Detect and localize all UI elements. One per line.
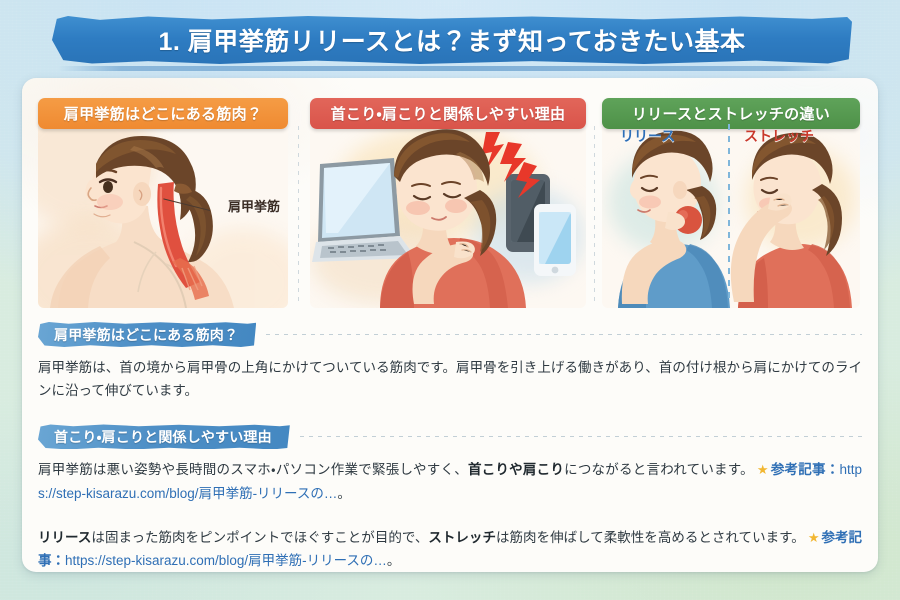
paragraph-mid-2: は筋肉を伸ばして柔軟性を高めるとされています。 [496,530,805,545]
title-underline [58,66,844,71]
neck-pain-illustration [310,118,586,308]
paragraph-emphasis: 首こりや肩こり [468,462,564,477]
paragraph-mid-1: は固まった筋肉をピンポイントでほぐすことが目的で、 [91,530,428,545]
panel-divider-2 [594,126,595,302]
infographic-page: 1. 肩甲挙筋リリースとは？まず知っておきたい基本 肩甲挙筋はどこにある筋肉？ … [0,0,900,600]
panel-header-release-vs-stretch: リリースとストレッチの違い [602,98,860,129]
illustration-muscle-location: 肩甲挙筋 [38,118,288,308]
paragraph-stiffness-reason: 肩甲挙筋は悪い姿勢や長時間のスマホ・パソコン作業で緊張しやすく、首こりや肩こりに… [38,458,862,505]
release-stretch-illustration [602,118,860,308]
smartphone-icon [534,204,576,276]
callout-label-levator-scapulae: 肩甲挙筋 [228,196,280,215]
panel-header-muscle-location: 肩甲挙筋はどこにある筋肉？ [38,98,288,129]
illustration-stiffness-reason [310,118,586,308]
page-title: 1. 肩甲挙筋リリースとは？まず知っておきたい基本 [52,16,852,64]
section-label-row-1: 肩甲挙筋はどこにある筋肉？ [38,322,862,347]
paragraph-text: 肩甲挙筋は、首の境から肩甲骨の上角にかけてついている筋肉です。肩甲骨を引き上げる… [38,360,862,398]
reference-label: 参考記事 [771,462,826,477]
paragraph-period: 。 [387,553,401,568]
section-label-row-2: 首こり・肩こりと関係しやすい理由 [38,424,862,449]
star-icon: ★ [808,530,820,545]
paragraph-suffix: につながると言われています。 [564,462,754,477]
stretch-figure [731,133,852,308]
reference-separator: ： [52,553,66,568]
sub-label-stretch: ストレッチ [744,126,814,146]
release-stretch-divider [728,124,730,300]
paragraph-emphasis-stretch: ストレッチ [428,530,496,545]
section-label-stiffness-reason: 首こり・肩こりと関係しやすい理由 [38,424,290,449]
section-rule [266,334,862,335]
star-icon: ★ [757,462,769,477]
body-text-section: 肩甲挙筋はどこにある筋肉？ 肩甲挙筋は、首の境から肩甲骨の上角にかけてついている… [38,322,862,573]
paragraph-prefix: 肩甲挙筋は悪い姿勢や長時間のスマホ・パソコン作業で緊張しやすく、 [38,462,468,477]
reference-link[interactable]: https://step-kisarazu.com/blog/肩甲挙筋-リリース… [65,553,387,568]
paragraph-period: 。 [337,486,351,501]
release-figure [618,131,730,308]
section-label-muscle-location: 肩甲挙筋はどこにある筋肉？ [38,322,256,347]
panel-divider-1 [298,126,299,302]
illustration-release-vs-stretch: リリース ストレッチ [602,118,860,308]
paragraph-emphasis-release: リリース [38,530,91,545]
section-rule [300,436,862,437]
paragraph-muscle-location: 肩甲挙筋は、首の境から肩甲骨の上角にかけてついている筋肉です。肩甲骨を引き上げる… [38,356,862,402]
paragraph-release-vs-stretch: リリースは固まった筋肉をピンポイントでほぐすことが目的で、ストレッチは筋肉を伸ば… [38,526,862,573]
sub-label-release: リリース [620,126,675,146]
panel-header-stiffness-reason: 首こり・肩こりと関係しやすい理由 [310,98,586,129]
reference-separator: ： [826,462,840,477]
